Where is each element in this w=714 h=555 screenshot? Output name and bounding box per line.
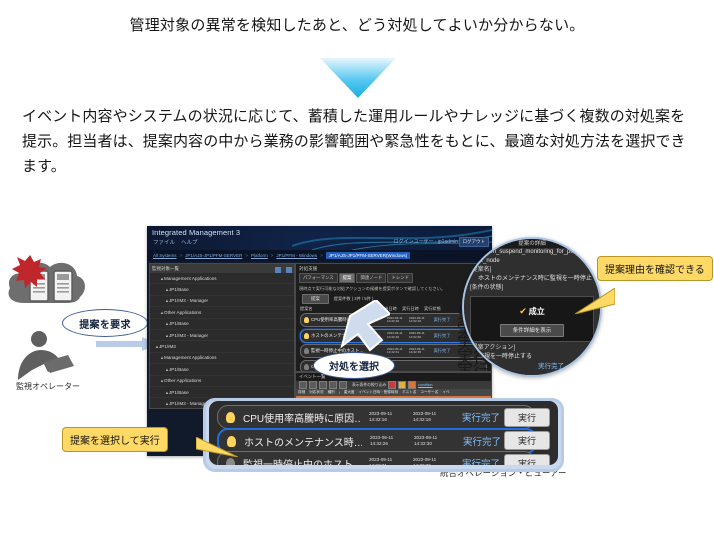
tree-search-icon[interactable]	[275, 267, 281, 273]
tree-node-label: Management Applications	[164, 276, 217, 281]
event-col-2: 種別	[328, 390, 335, 395]
event-filter-link[interactable]: condition	[418, 383, 432, 387]
tree-node-label: Other Applications	[164, 310, 201, 315]
breadcrumb-separator: >	[320, 253, 323, 258]
suggestion-executed-time: 2023-09-1114:32:30	[414, 435, 450, 447]
pane-tab-1[interactable]: 提案	[339, 273, 356, 283]
suggestion-bulb-icon	[226, 458, 235, 466]
headline-text: 管理対象の異常を検知したあと、どう対処してよいか分からない。	[0, 14, 714, 35]
suggestion-executed-time: 2023-09-11 14:32:30	[409, 332, 429, 339]
event-col-1: 対応状況	[309, 390, 323, 395]
tree-node-label: JP1/IM3	[159, 344, 176, 349]
execute-callout-tail	[196, 437, 238, 457]
suggestion-magnifier-inner: CPU使用率高騰時に原因…2023-09-1114:32:162023-09-1…	[209, 401, 558, 465]
severity-error-icon[interactable]	[388, 381, 396, 389]
tree-node-label: JP1/IM3 - Manager	[169, 401, 208, 406]
suggestion-name: ホストのメンテナンス時…	[244, 434, 362, 449]
suggestion-name: 監視一時停止中のホスト…	[243, 456, 361, 466]
suggestion-bulb-icon	[226, 412, 235, 423]
suggestion-detected-time: 2023-09-1114:32:31	[369, 457, 405, 465]
tree-node-3[interactable]: ▲Other Applications	[150, 307, 294, 318]
severity-warning-icon[interactable]	[398, 381, 406, 389]
suggest-button[interactable]: 提案	[302, 294, 329, 304]
breadcrumb-item-3[interactable]: JP1/PFM - Windows	[276, 253, 317, 258]
event-filter-label: 表示条件の絞り込み	[352, 383, 386, 388]
event-col-6: ホスト名	[402, 390, 416, 395]
event-tool-last-icon[interactable]	[329, 381, 337, 389]
cloud-servers-icon	[4, 253, 88, 315]
suggestion-col-3: 実行状態	[424, 306, 446, 312]
detail-strip: 提案の詳細	[464, 239, 600, 248]
tree-node-7[interactable]: ▲Management Applications	[150, 353, 294, 364]
event-col-0: 詳細	[298, 390, 305, 395]
suggestion-bulb-icon	[304, 348, 309, 354]
suggestion-col-2: 実行日時	[402, 306, 422, 312]
tree-node-label: JP1/IM3 - Manager	[169, 333, 208, 338]
event-tool-pause-icon[interactable]	[339, 381, 347, 389]
suggestion-magnifier-panel: CPU使用率高騰時に原因…2023-09-1114:32:162023-09-1…	[203, 398, 564, 472]
detail-time-1: 14:32:26	[466, 352, 480, 356]
magnified-execute-button[interactable]: 実行	[504, 454, 550, 465]
callout-reason: 提案理由を確認できる	[597, 256, 713, 281]
reason-callout-tail	[575, 288, 615, 314]
app-title: Integrated Management 3	[152, 228, 240, 237]
tree-header: 監視対象一覧	[150, 264, 294, 273]
suggestion-executed-time: 2023-09-1114:32:35	[413, 457, 449, 465]
suggestion-bulb-icon	[304, 333, 309, 339]
tree-node-2[interactable]: ▲JP1/IM3 - Manager	[150, 296, 294, 307]
login-user-label: ログインユーザー : jp1admin	[394, 238, 458, 245]
pane-title: 対処支援	[296, 264, 491, 273]
operator-icon	[8, 330, 82, 380]
breadcrumb-separator: >	[245, 253, 248, 258]
tree-node-label: Other Applications	[164, 378, 201, 383]
suggestion-detected-time: 2023-09-1114:32:26	[370, 435, 406, 447]
tree-node-5[interactable]: ▲JP1/IM3 - Manager	[150, 330, 294, 341]
tree-node-label: JP1/IM3 - Manager	[169, 298, 208, 303]
event-tool-prev-icon[interactable]	[309, 381, 317, 389]
check-icon: ✔	[519, 306, 527, 316]
event-col-3: !	[339, 391, 340, 395]
event-col-5: イベント日時・登録時刻	[359, 390, 399, 395]
suggestion-detected-time: 2023-09-1114:32:16	[369, 411, 405, 423]
rule-id-line-1: …01_pfm_suspend_monitoring_for_perform	[464, 248, 600, 257]
tree-expand-icon[interactable]	[286, 267, 292, 273]
tree-node-1[interactable]: ▲JP1/Base	[150, 284, 294, 295]
tree-node-6[interactable]: ▲JP1/IM3	[150, 341, 294, 352]
tree-node-list[interactable]: ▲Management Applications▲JP1/Base▲JP1/IM…	[150, 273, 294, 409]
breadcrumb: All Systems>JP1/AJS-JP1/PFM-SERVER>Platf…	[147, 250, 492, 261]
condition-result: 成立	[529, 307, 545, 316]
down-arrow-icon	[320, 58, 396, 98]
operator-label: 監視オペレーター	[0, 381, 96, 392]
detail-strip-label: 提案の詳細	[464, 239, 600, 247]
suggestion-executed-time: 2023-09-1114:32:16	[413, 411, 449, 423]
tree-node-8[interactable]: ▲JP1/Base	[150, 364, 294, 375]
condition-detail-button[interactable]: 条件詳細を表示	[500, 324, 565, 337]
pane-tab-3[interactable]: トレンド	[387, 273, 413, 283]
app-titlebar: Integrated Management 3 ファイル ヘルプ ログインユーザ…	[147, 226, 492, 250]
monitoring-tree-panel: 監視対象一覧 ▲Management Applications▲JP1/Base…	[149, 263, 295, 409]
tree-node-label: JP1/Base	[169, 321, 189, 326]
suggestion-executed-time: 2023-09-11 14:32:16	[409, 317, 429, 324]
event-col-8: イベ	[442, 390, 449, 395]
tree-node-10[interactable]: ▲JP1/Base	[150, 387, 294, 398]
tree-node-label: JP1/Base	[169, 390, 189, 395]
suggestion-detected-time: 2023-09-11 14:32:16	[387, 317, 407, 324]
suggestion-state: 実行完了	[457, 410, 505, 424]
tree-node-label: JP1/Base	[169, 287, 189, 292]
suggestion-state: 実行完了	[457, 456, 505, 465]
detail-done-state: 実行完了	[538, 360, 564, 370]
breadcrumb-item-2[interactable]: Platform	[251, 253, 268, 258]
tree-header-label: 監視対象一覧	[152, 266, 179, 272]
event-tool-next-icon[interactable]	[319, 381, 327, 389]
event-col-7: ユーザー名	[420, 390, 438, 395]
suggestion-state: 実行完了	[458, 434, 506, 448]
suggested-action-label: [提案アクション]	[464, 344, 600, 353]
severity-notice-icon[interactable]	[408, 381, 416, 389]
breadcrumb-separator: >	[271, 253, 274, 258]
event-tool-first-icon[interactable]	[299, 381, 307, 389]
suggestion-state: 実行完了	[431, 317, 453, 323]
suggestion-bulb-icon	[304, 317, 309, 323]
tree-node-4[interactable]: ▲JP1/Base	[150, 319, 294, 330]
magnified-suggestion-row[interactable]: 監視一時停止中のホスト…2023-09-1114:32:312023-09-11…	[217, 451, 535, 465]
suggestion-executed-time: 2023-09-11 14:32:35	[409, 348, 429, 355]
event-toolbar[interactable]: 表示条件の絞り込み condition	[296, 381, 491, 389]
pane-hint: 現時点で実行可能な対処アクションの候補を提案ボタンで確認してください。	[296, 283, 491, 294]
breadcrumb-item-1[interactable]: JP1/AJS-JP1/PFM-SERVER	[185, 253, 242, 258]
suggestion-name: CPU使用率高騰時に原因…	[243, 410, 361, 425]
magnified-execute-button[interactable]: 実行	[504, 408, 550, 427]
pane-tab-0[interactable]: パフォーマンス	[299, 273, 338, 283]
suggestion-name-label: [提案名]	[464, 266, 600, 275]
event-column-headers: 詳細対応状況種別!重大度イベント日時・登録時刻ホスト名ユーザー名イベ	[296, 389, 491, 396]
tree-node-label: JP1/Base	[169, 367, 189, 372]
suggestion-detected-time: 2023-09-11 14:32:26	[387, 332, 407, 339]
tree-node-9[interactable]: ▲Other Applications	[150, 376, 294, 387]
suggestion-name-value: ホストのメンテナンス時に監視を一時停止する	[464, 275, 600, 284]
magnified-execute-button[interactable]: 実行	[504, 431, 550, 450]
pane-tab-2[interactable]: 関連ノード	[356, 273, 386, 283]
suggestion-state: 実行完了	[431, 333, 453, 339]
detail-time-2: 14:32:30	[466, 358, 480, 362]
breadcrumb-item-4[interactable]: JP1/AJS-JP1/PFM-SERVER(Windows)	[326, 252, 410, 259]
callout-execute: 提案を選択して実行	[62, 427, 168, 452]
suggested-action-value: 監視を一時停止する	[464, 353, 600, 362]
pane-tabs[interactable]: パフォーマンス提案関連ノードトレンド	[296, 273, 491, 283]
select-action-bubble: 対処を選択	[313, 352, 395, 379]
breadcrumb-item-0[interactable]: All Systems	[153, 253, 177, 258]
tree-node-0[interactable]: ▲Management Applications	[150, 273, 294, 284]
suggestion-state: 実行完了	[431, 348, 453, 354]
rule-id-line-2: ance_node	[464, 257, 600, 266]
request-bubble: 提案を要求	[62, 309, 148, 337]
magnified-suggestion-row[interactable]: CPU使用率高騰時に原因…2023-09-1114:32:162023-09-1…	[217, 405, 535, 429]
tree-node-label: Management Applications	[164, 355, 217, 360]
suggestion-bulb-icon	[304, 364, 309, 370]
lead-paragraph: イベント内容やシステムの状況に応じて、蓄積した運用ルールやナレッジに基づく複数の…	[22, 104, 698, 179]
menu-help[interactable]: ヘルプ	[181, 238, 198, 246]
suggestion-detected-time: 2023-09-11 14:32:31	[387, 348, 407, 355]
breadcrumb-separator: >	[180, 253, 183, 258]
menu-file[interactable]: ファイル	[153, 238, 175, 246]
event-col-4: 重大度	[344, 390, 355, 395]
